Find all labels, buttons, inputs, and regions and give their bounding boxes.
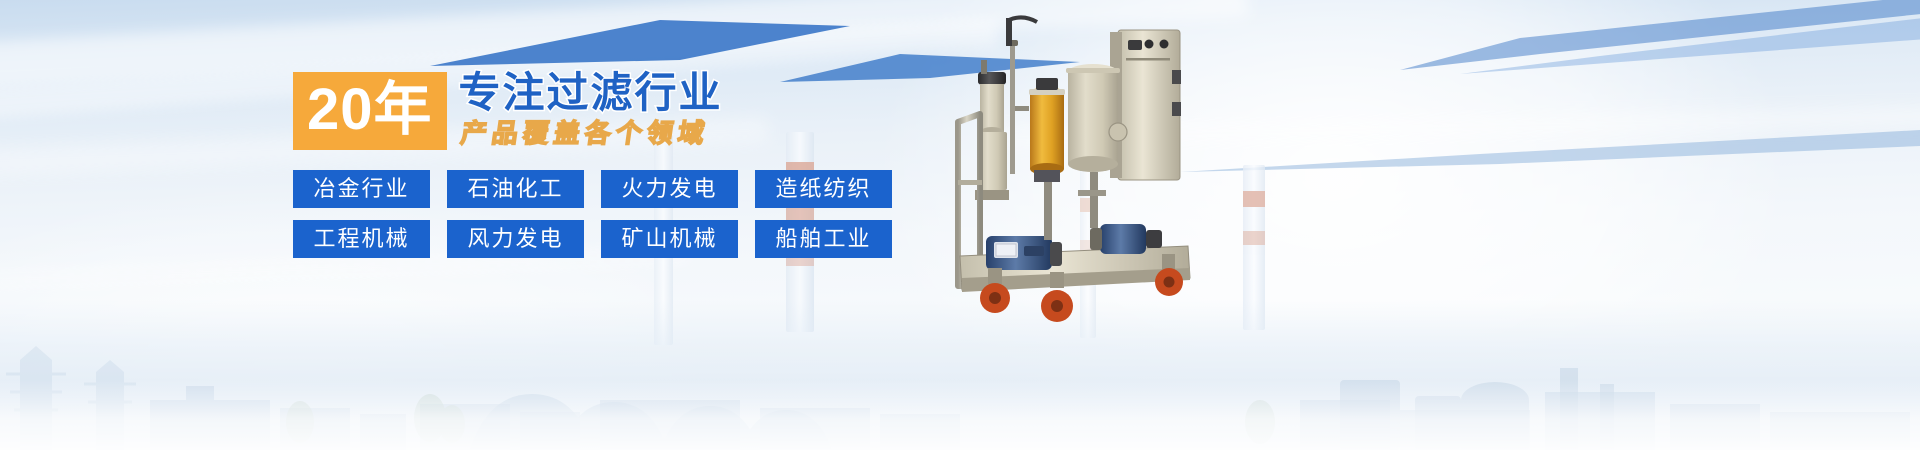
headline-row: 20年 专注过滤行业 产品覆盖各个领域: [293, 72, 853, 150]
product-image-filter-cart: [950, 10, 1280, 350]
industry-tag-grid: 冶金行业 石油化工 火力发电 造纸纺织 工程机械 风力发电 矿山机械 船舶工业: [293, 170, 892, 258]
years-badge: 20年: [293, 72, 447, 150]
industry-tag-row: 冶金行业 石油化工 火力发电 造纸纺织: [293, 170, 892, 208]
bottom-haze: [0, 380, 1920, 450]
banner-subheadline: 产品覆盖各个领域: [457, 120, 725, 146]
industry-tag-shipbuilding[interactable]: 船舶工业: [755, 220, 892, 258]
industry-tag-petrochemical[interactable]: 石油化工: [447, 170, 584, 208]
headline-text-group: 专注过滤行业 产品覆盖各个领域: [459, 72, 723, 146]
hero-banner: 20年 专注过滤行业 产品覆盖各个领域 冶金行业 石油化工 火力发电 造纸纺织 …: [0, 0, 1920, 450]
industry-tag-mining-machinery[interactable]: 矿山机械: [601, 220, 738, 258]
banner-headline: 专注过滤行业: [459, 72, 723, 115]
industry-tag-construction-machinery[interactable]: 工程机械: [293, 220, 430, 258]
banner-copy-block: 20年 专注过滤行业 产品覆盖各个领域: [293, 72, 853, 150]
industry-tag-metallurgy[interactable]: 冶金行业: [293, 170, 430, 208]
industry-tag-row: 工程机械 风力发电 矿山机械 船舶工业: [293, 220, 892, 258]
industry-tag-paper-textile[interactable]: 造纸纺织: [755, 170, 892, 208]
industry-tag-thermal-power[interactable]: 火力发电: [601, 170, 738, 208]
industry-tag-wind-power[interactable]: 风力发电: [447, 220, 584, 258]
